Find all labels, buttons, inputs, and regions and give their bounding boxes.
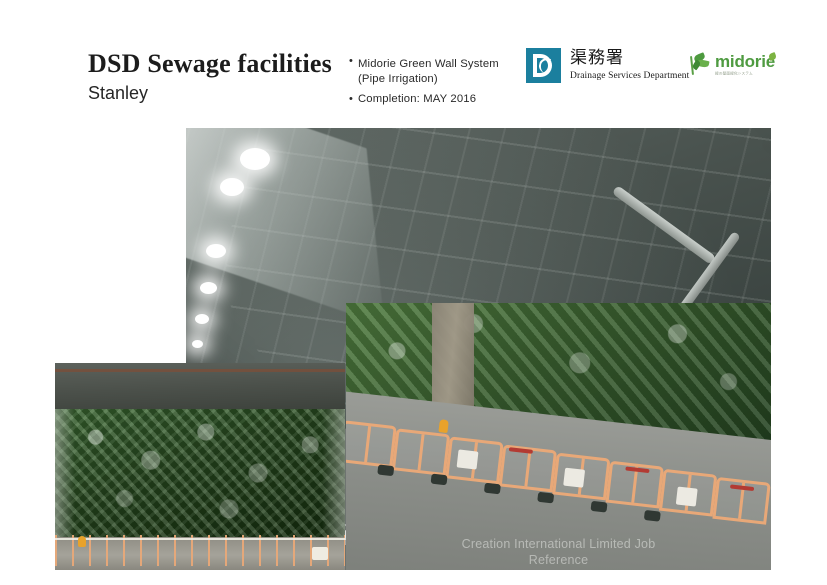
ceiling-lamp-icon (192, 340, 203, 348)
greenwall-overhang (55, 363, 345, 413)
ceiling-lamp-icon (220, 178, 244, 196)
photo-roadside-barriers (346, 303, 771, 570)
list-item: • Completion: MAY 2016 (349, 92, 524, 106)
midorie-leaf-dot-icon (768, 52, 777, 61)
dsd-chinese-name: 渠務署 (570, 49, 689, 69)
title-block: DSD Sewage facilities Stanley (88, 50, 332, 103)
midorie-logo: midorie 緑の壁面緑化システム (688, 52, 776, 78)
midorie-tagline: 緑の壁面緑化システム (715, 72, 776, 77)
greenwall-left-edge (55, 409, 75, 537)
warning-lamp-icon (78, 536, 86, 547)
greenwall-beam (55, 369, 345, 372)
page-title: DSD Sewage facilities (88, 50, 332, 79)
ceiling-lamp-icon (240, 148, 270, 170)
midorie-wordmark-text: midori (715, 52, 766, 71)
greenwall-vegetation (55, 409, 345, 537)
dsd-logo-text: 渠務署 Drainage Services Department (570, 48, 689, 81)
leaf-sprout-icon (688, 52, 712, 78)
list-item: • Midorie Green Wall System (Pipe Irriga… (349, 54, 524, 86)
greenwall-right-edge (322, 409, 345, 537)
bullet-dot-icon: • (349, 54, 358, 68)
bullet-text: Midorie Green Wall System (358, 58, 499, 70)
slide-header: DSD Sewage facilities Stanley • Midorie … (0, 0, 827, 128)
ceiling-lamp-icon (206, 244, 226, 258)
bullet-list: • Midorie Green Wall System (Pipe Irriga… (349, 54, 524, 112)
midorie-logo-text: midorie 緑の壁面緑化システム (715, 53, 776, 77)
bullet-subtext: (Pipe Irrigation) (358, 72, 499, 86)
dsd-monogram-icon (526, 48, 561, 83)
photo-green-wall-closeup (55, 363, 345, 570)
greenwall-barrier-row (55, 535, 345, 566)
dsd-logo: 渠務署 Drainage Services Department (526, 48, 689, 83)
presentation-slide: DSD Sewage facilities Stanley • Midorie … (0, 0, 827, 585)
ceiling-lamp-icon (200, 282, 217, 294)
dsd-english-name: Drainage Services Department (570, 71, 689, 81)
ceiling-lamp-icon (195, 314, 209, 324)
bullet-text: Completion: MAY 2016 (358, 92, 476, 106)
bullet-dot-icon: • (349, 92, 358, 106)
barrier-sign (312, 547, 328, 560)
midorie-wordmark: midorie (715, 53, 776, 70)
page-subtitle: Stanley (88, 84, 332, 104)
